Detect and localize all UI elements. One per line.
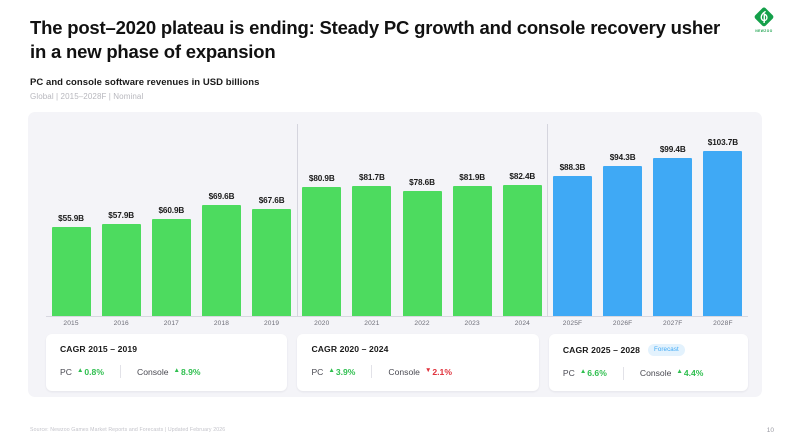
- x-axis-tick: 2015: [46, 320, 96, 327]
- x-axis-tick: 2028F: [698, 320, 748, 327]
- metric-value: ▲0.8%: [77, 367, 104, 377]
- bar[interactable]: [302, 187, 341, 316]
- bar[interactable]: [403, 191, 442, 316]
- bar-value-label: $78.6B: [409, 178, 435, 187]
- bar-value-label: $57.9B: [108, 211, 134, 220]
- x-axis-tick: 2025F: [547, 320, 597, 327]
- metric-label: PC: [311, 367, 323, 377]
- x-axis-tick: 2023: [447, 320, 497, 327]
- metric-pc: PC▲3.9%: [311, 367, 355, 377]
- arrow-up-icon: ▲: [580, 369, 586, 376]
- plot-area: $55.9B$57.9B$60.9B$69.6B$67.6B$80.9B$81.…: [46, 122, 748, 317]
- bar[interactable]: [653, 158, 692, 316]
- metric-number: 2.1%: [432, 367, 452, 377]
- metric-label: PC: [60, 367, 72, 377]
- bar-slot[interactable]: $94.3B: [598, 122, 648, 316]
- x-axis-tick: 2016: [96, 320, 146, 327]
- chart-subtitle: PC and console software revenues in USD …: [30, 77, 760, 88]
- metric-number: 8.9%: [181, 367, 201, 377]
- x-axis-tick: 2017: [146, 320, 196, 327]
- bar-slot[interactable]: $57.9B: [96, 122, 146, 316]
- bar-slot[interactable]: $81.9B: [447, 122, 497, 316]
- metric-console: Console▼2.1%: [388, 367, 452, 377]
- x-axis-tick: 2027F: [648, 320, 698, 327]
- cagr-title: CAGR 2015 – 2019: [60, 344, 137, 354]
- bar-value-label: $82.4B: [509, 172, 535, 181]
- metric-value: ▲6.6%: [580, 368, 607, 378]
- bar-value-label: $80.9B: [309, 174, 335, 183]
- bar[interactable]: [453, 186, 492, 316]
- cagr-title: CAGR 2025 – 2028: [563, 345, 640, 355]
- bar-slot[interactable]: $80.9B: [297, 122, 347, 316]
- metric-number: 6.6%: [587, 368, 607, 378]
- x-axis-tick: 2026F: [598, 320, 648, 327]
- x-axis-tick: 2022: [397, 320, 447, 327]
- bar-slot[interactable]: $60.9B: [146, 122, 196, 316]
- x-axis-labels: 2015201620172018201920202021202220232024…: [46, 320, 748, 327]
- cagr-title-row: CAGR 2020 – 2024: [311, 344, 524, 354]
- slide-header: The post–2020 plateau is ending: Steady …: [0, 0, 790, 101]
- page-title: The post–2020 plateau is ending: Steady …: [30, 16, 730, 63]
- bar-slot[interactable]: $67.6B: [247, 122, 297, 316]
- bar-value-label: $81.7B: [359, 173, 385, 182]
- x-axis-tick: 2021: [347, 320, 397, 327]
- bar-value-label: $103.7B: [708, 138, 738, 147]
- bar-value-label: $60.9B: [158, 206, 184, 215]
- bar[interactable]: [703, 151, 742, 316]
- bar-slot[interactable]: $69.6B: [196, 122, 246, 316]
- bar-value-label: $99.4B: [660, 145, 686, 154]
- metric-value: ▲4.4%: [676, 368, 703, 378]
- bars-row: $55.9B$57.9B$60.9B$69.6B$67.6B$80.9B$81.…: [46, 122, 748, 316]
- bar-value-label: $94.3B: [610, 153, 636, 162]
- metric-label: PC: [563, 368, 575, 378]
- bar-slot[interactable]: $81.7B: [347, 122, 397, 316]
- metrics-row: PC▲3.9%Console▼2.1%: [311, 365, 524, 378]
- bar[interactable]: [553, 176, 592, 317]
- metric-separator: [371, 365, 372, 378]
- bar[interactable]: [152, 219, 191, 316]
- metric-console: Console▲8.9%: [137, 367, 201, 377]
- metrics-row: PC▲0.8%Console▲8.9%: [60, 365, 273, 378]
- cagr-cards-row: CAGR 2015 – 2019PC▲0.8%Console▲8.9%CAGR …: [46, 334, 748, 391]
- group-divider: [297, 124, 298, 317]
- arrow-up-icon: ▲: [328, 368, 334, 375]
- x-axis-tick: 2018: [196, 320, 246, 327]
- bar-value-label: $88.3B: [560, 163, 586, 172]
- newzoo-logo: NEWZOO: [746, 6, 782, 40]
- metric-number: 4.4%: [684, 368, 704, 378]
- metric-label: Console: [137, 367, 169, 377]
- cagr-card[interactable]: CAGR 2015 – 2019PC▲0.8%Console▲8.9%: [46, 334, 287, 391]
- bar[interactable]: [603, 166, 642, 316]
- bar[interactable]: [102, 224, 141, 316]
- logo-wordmark: NEWZOO: [755, 29, 772, 33]
- bar-slot[interactable]: $78.6B: [397, 122, 447, 316]
- metric-value: ▼2.1%: [425, 367, 452, 377]
- cagr-card[interactable]: CAGR 2025 – 2028ForecastPC▲6.6%Console▲4…: [549, 334, 748, 391]
- x-axis-tick: 2024: [497, 320, 547, 327]
- arrow-down-icon: ▼: [425, 368, 431, 375]
- bar[interactable]: [202, 205, 241, 316]
- cagr-card[interactable]: CAGR 2020 – 2024PC▲3.9%Console▼2.1%: [297, 334, 538, 391]
- metric-value: ▲8.9%: [174, 367, 201, 377]
- bar[interactable]: [52, 227, 91, 316]
- cagr-title-row: CAGR 2025 – 2028Forecast: [563, 344, 734, 356]
- x-axis-line: [46, 316, 748, 317]
- metric-value: ▲3.9%: [328, 367, 355, 377]
- bar[interactable]: [352, 186, 391, 316]
- x-axis-tick: 2020: [297, 320, 347, 327]
- arrow-up-icon: ▲: [676, 369, 682, 376]
- arrow-up-icon: ▲: [77, 368, 83, 375]
- metric-console: Console▲4.4%: [640, 368, 704, 378]
- metric-label: Console: [640, 368, 672, 378]
- arrow-up-icon: ▲: [174, 368, 180, 375]
- metric-separator: [623, 367, 624, 380]
- bar[interactable]: [503, 185, 542, 316]
- bar-slot[interactable]: $55.9B: [46, 122, 96, 316]
- bar-value-label: $81.9B: [459, 173, 485, 182]
- forecast-badge: Forecast: [648, 344, 685, 356]
- metric-pc: PC▲0.8%: [60, 367, 104, 377]
- bar[interactable]: [252, 209, 291, 317]
- cagr-title: CAGR 2020 – 2024: [311, 344, 388, 354]
- metric-label: Console: [388, 367, 420, 377]
- group-divider: [547, 124, 548, 317]
- chart-panel: $55.9B$57.9B$60.9B$69.6B$67.6B$80.9B$81.…: [28, 112, 762, 397]
- bar-slot[interactable]: $103.7B: [698, 122, 748, 316]
- page-number: 10: [767, 427, 774, 434]
- metrics-row: PC▲6.6%Console▲4.4%: [563, 367, 734, 380]
- bar-slot[interactable]: $99.4B: [648, 122, 698, 316]
- metric-number: 3.9%: [336, 367, 356, 377]
- cagr-title-row: CAGR 2015 – 2019: [60, 344, 273, 354]
- source-note: Source: Newzoo Games Market Reports and …: [30, 427, 225, 433]
- bar-slot[interactable]: $88.3B: [547, 122, 597, 316]
- bar-value-label: $67.6B: [259, 196, 285, 205]
- x-axis-tick: 2019: [247, 320, 297, 327]
- bar-value-label: $69.6B: [209, 192, 235, 201]
- metric-separator: [120, 365, 121, 378]
- newzoo-diamond-icon: [753, 6, 775, 28]
- bar-value-label: $55.9B: [58, 214, 84, 223]
- subtitle-block: PC and console software revenues in USD …: [30, 77, 760, 101]
- metric-number: 0.8%: [84, 367, 104, 377]
- bar-slot[interactable]: $82.4B: [497, 122, 547, 316]
- metric-pc: PC▲6.6%: [563, 368, 607, 378]
- chart-scope-meta: Global | 2015–2028F | Nominal: [30, 92, 760, 101]
